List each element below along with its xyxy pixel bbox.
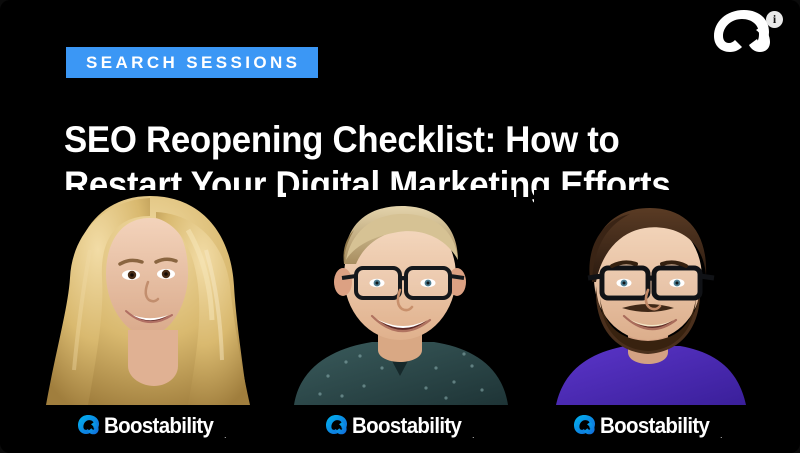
- speaker-1-company-logo: Boostability .: [38, 410, 266, 442]
- eyebrow-badge: SEARCH SESSIONS: [66, 47, 318, 78]
- eyebrow-label: SEARCH SESSIONS: [86, 54, 300, 71]
- info-icon[interactable]: i: [766, 11, 783, 28]
- speaker-1-company-name: Boostability: [104, 415, 213, 437]
- speaker-row: Boostability .: [0, 190, 800, 453]
- speaker-card-3: Boostability .: [534, 190, 762, 453]
- speaker-3-company-logo: Boostability .: [534, 410, 762, 442]
- speaker-portrait-1: [38, 190, 266, 405]
- speaker-3-company-trademark: .: [720, 430, 723, 442]
- speaker-card-1: Boostability .: [38, 190, 266, 453]
- speaker-card-2: Boostability .: [286, 190, 514, 453]
- page-title-line-1: SEO Reopening Checklist: How to: [64, 117, 703, 162]
- speaker-2-company-name: Boostability: [352, 415, 461, 437]
- brand-mark: i: [704, 4, 792, 56]
- speaker-portrait-3: [534, 190, 762, 405]
- boostability-glyph-icon: [573, 414, 597, 438]
- speaker-portrait-2: [286, 190, 514, 405]
- boostability-glyph-icon: [325, 414, 349, 438]
- speaker-2-company-logo: Boostability .: [286, 410, 514, 442]
- speaker-1-company-trademark: .: [224, 430, 227, 442]
- boostability-glyph-icon: [77, 414, 101, 438]
- speaker-2-company-trademark: .: [472, 430, 475, 442]
- speaker-3-company-name: Boostability: [600, 415, 709, 437]
- slide-canvas: i SEARCH SESSIONS SEO Reopening Checklis…: [0, 0, 800, 453]
